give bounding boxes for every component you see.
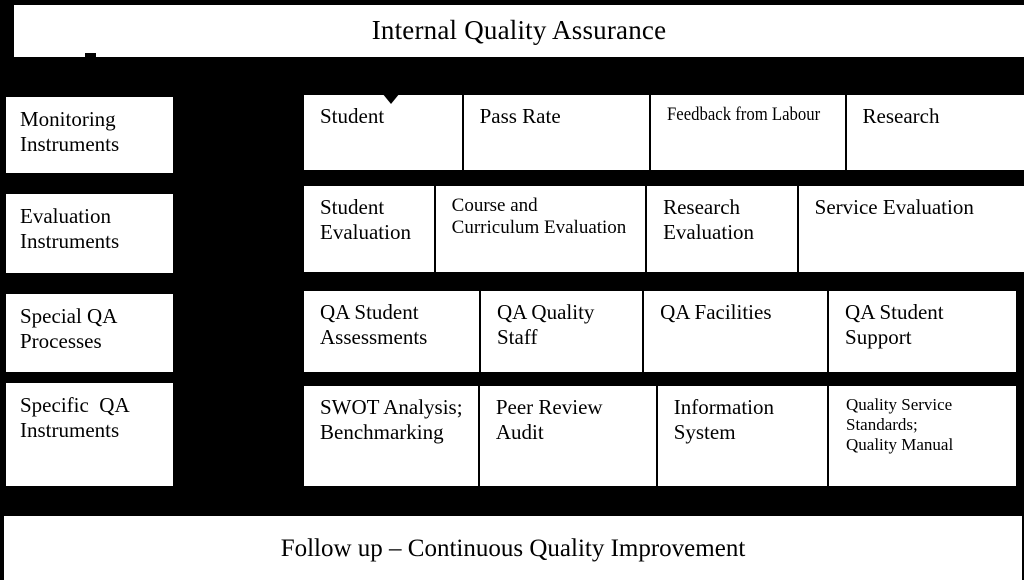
- cell-line-2: System: [674, 420, 827, 445]
- row-label-special-qa-processes: Special QA Processes: [4, 292, 175, 374]
- arrowhead-icon: [382, 93, 400, 104]
- cell-peer-review-audit: Peer Review Audit: [480, 386, 658, 486]
- cell-quality-service-standards-manual-extension: Quality Service Standards; Quality Manua…: [830, 384, 1018, 488]
- cell-line-1: SWOT Analysis;: [320, 395, 478, 420]
- row-evaluation-instruments: Student Evaluation Course and Curriculum…: [302, 184, 1024, 274]
- cell-line-1: Quality Service: [846, 395, 1016, 415]
- cell-line-2: Benchmarking: [320, 420, 478, 445]
- cell-line-2: Standards;: [846, 415, 1016, 435]
- row-label-line-1: Monitoring: [20, 107, 173, 132]
- cell-swot-analysis-benchmarking: SWOT Analysis; Benchmarking: [304, 386, 480, 486]
- cell-line-1: Pass Rate: [480, 104, 649, 129]
- cell-line-1: QA Quality: [497, 300, 642, 325]
- cell-qa-quality-staff: QA Quality Staff: [481, 291, 644, 372]
- row-label-monitoring-instruments: Monitoring Instruments: [4, 95, 175, 175]
- cell-line-1: QA Facilities: [660, 300, 827, 325]
- row-label-line-2: Instruments: [20, 132, 173, 157]
- diagram-footer-box: Follow up – Continuous Quality Improveme…: [2, 514, 1024, 580]
- cell-line-1: Course and: [452, 195, 645, 217]
- cell-line-2: Staff: [497, 325, 642, 350]
- cell-line-1: QA Student: [320, 300, 479, 325]
- row-special-qa-processes: QA Student Assessments QA Quality Staff …: [302, 289, 1012, 374]
- cell-line-3: Quality Manual: [846, 435, 1016, 455]
- cell-qa-student-support: QA Student Support: [829, 291, 1010, 372]
- cell-course-and-curriculum-evaluation: Course and Curriculum Evaluation: [436, 186, 647, 272]
- diagram-title-box: Internal Quality Assurance: [12, 3, 1024, 59]
- cell-line-2: Assessments: [320, 325, 479, 350]
- cell-research: Research: [847, 95, 1024, 170]
- cell-qa-student-assessments: QA Student Assessments: [304, 291, 481, 372]
- row-label-line-2: Processes: [20, 329, 173, 354]
- cell-information-system: Information System: [658, 386, 829, 486]
- row-label-line-1: Specific QA: [20, 393, 173, 418]
- cell-qa-facilities: QA Facilities: [644, 291, 829, 372]
- cell-line-1: Student: [320, 104, 462, 129]
- cell-line-2: Curriculum Evaluation: [452, 217, 645, 239]
- cell-feedback-from-labour: Feedback from Labour: [651, 95, 846, 170]
- row-label-line-1: Evaluation: [20, 204, 173, 229]
- cell-line-1: Peer Review: [496, 395, 656, 420]
- row-special-qa-processes-extension: [1010, 289, 1018, 374]
- cell-line-1: QA Student: [845, 300, 1010, 325]
- cell-line-1: Research: [863, 104, 1024, 129]
- row-label-line-2: Instruments: [20, 418, 173, 443]
- row-monitoring-instruments: Student Pass Rate Feedback from Labour R…: [302, 93, 1024, 172]
- cell-line-2: Audit: [496, 420, 656, 445]
- cell-student-evaluation: Student Evaluation: [304, 186, 436, 272]
- cell-line-1: Student: [320, 195, 434, 220]
- cell-line-2: Evaluation: [663, 220, 797, 245]
- iqa-framework-diagram: Internal Quality Assurance Monitoring In…: [0, 0, 1024, 580]
- diagram-footer: Follow up – Continuous Quality Improveme…: [281, 534, 746, 564]
- row-label-specific-qa-instruments: Specific QA Instruments: [4, 381, 175, 488]
- cell-line-1: Service Evaluation: [815, 195, 1024, 220]
- cell-pass-rate: Pass Rate: [464, 95, 651, 170]
- cell-service-evaluation: Service Evaluation: [799, 186, 1024, 272]
- row-label-line-2: Instruments: [20, 229, 173, 254]
- diagram-title: Internal Quality Assurance: [372, 15, 667, 47]
- title-connector-stub: [85, 53, 96, 61]
- row-label-line-1: Special QA: [20, 304, 173, 329]
- cell-line-2: Support: [845, 325, 1010, 350]
- row-label-evaluation-instruments: Evaluation Instruments: [4, 192, 175, 275]
- cell-line-1: Information: [674, 395, 827, 420]
- cell-line-2: Evaluation: [320, 220, 434, 245]
- cell-line-1: Research: [663, 195, 797, 220]
- cell-student: Student: [304, 95, 464, 170]
- cell-research-evaluation: Research Evaluation: [647, 186, 799, 272]
- cell-line-1: Feedback from Labour: [667, 104, 823, 126]
